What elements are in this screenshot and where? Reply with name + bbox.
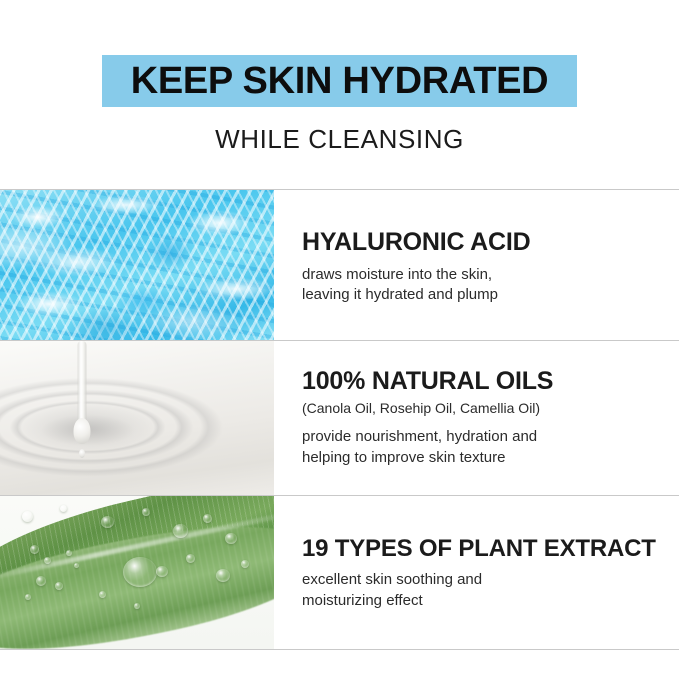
page-subtitle: WHILE CLEANSING: [0, 124, 679, 155]
feature-description-line: helping to improve skin texture: [302, 448, 663, 468]
feature-image-hyaluronic-acid: [0, 190, 274, 340]
footer-whitespace: [0, 650, 679, 679]
water-droplet: [22, 511, 33, 522]
feature-image-natural-oils: [0, 341, 274, 495]
feature-row: 19 TYPES OF PLANT EXTRACT excellent skin…: [0, 495, 679, 650]
water-droplet: [99, 591, 106, 598]
feature-title: 100% NATURAL OILS: [302, 368, 663, 396]
feature-row: HYALURONIC ACID draws moisture into the …: [0, 189, 679, 340]
water-droplet: [44, 557, 51, 564]
water-droplet: [173, 524, 188, 538]
milk-stream: [78, 341, 87, 430]
water-droplet: [225, 533, 237, 544]
feature-text-natural-oils: 100% NATURAL OILS (Canola Oil, Rosehip O…: [274, 341, 679, 495]
water-droplet: [30, 545, 39, 554]
water-droplet: [36, 576, 46, 586]
milk-photo: [0, 341, 274, 495]
feature-description-line: leaving it hydrated and plump: [302, 285, 663, 305]
milk-droplet: [74, 418, 91, 444]
water-droplet: [25, 594, 31, 600]
feature-title: HYALURONIC ACID: [302, 229, 663, 257]
water-droplet: [55, 582, 63, 590]
feature-description-line: draws moisture into the skin,: [302, 265, 663, 285]
water-droplet: [60, 505, 67, 512]
feature-image-plant-extract: [0, 496, 274, 649]
feature-subtitle: (Canola Oil, Rosehip Oil, Camellia Oil): [302, 400, 663, 418]
water-photo: [0, 190, 274, 340]
feature-description: draws moisture into the skin, leaving it…: [302, 265, 663, 306]
feature-title: 19 TYPES OF PLANT EXTRACT: [302, 536, 663, 562]
milk-droplet-small: [79, 449, 85, 458]
title-banner: KEEP SKIN HYDRATED: [102, 55, 577, 107]
water-droplet: [66, 550, 72, 556]
poster-header: KEEP SKIN HYDRATED WHILE CLEANSING: [0, 0, 679, 189]
feature-description-line: provide nourishment, hydration and: [302, 427, 663, 447]
product-feature-poster: KEEP SKIN HYDRATED WHILE CLEANSING HYALU…: [0, 0, 679, 679]
page-title: KEEP SKIN HYDRATED: [131, 62, 549, 100]
feature-list: HYALURONIC ACID draws moisture into the …: [0, 189, 679, 650]
feature-description-line: moisturizing effect: [302, 591, 663, 611]
feature-description: excellent skin soothing and moisturizing…: [302, 570, 663, 611]
feature-row: 100% NATURAL OILS (Canola Oil, Rosehip O…: [0, 340, 679, 495]
feature-description-line: excellent skin soothing and: [302, 570, 663, 590]
feature-description: provide nourishment, hydration and helpi…: [302, 427, 663, 468]
feature-text-hyaluronic-acid: HYALURONIC ACID draws moisture into the …: [274, 190, 679, 340]
feature-text-plant-extract: 19 TYPES OF PLANT EXTRACT excellent skin…: [274, 496, 679, 649]
leaf-photo: [0, 496, 274, 649]
